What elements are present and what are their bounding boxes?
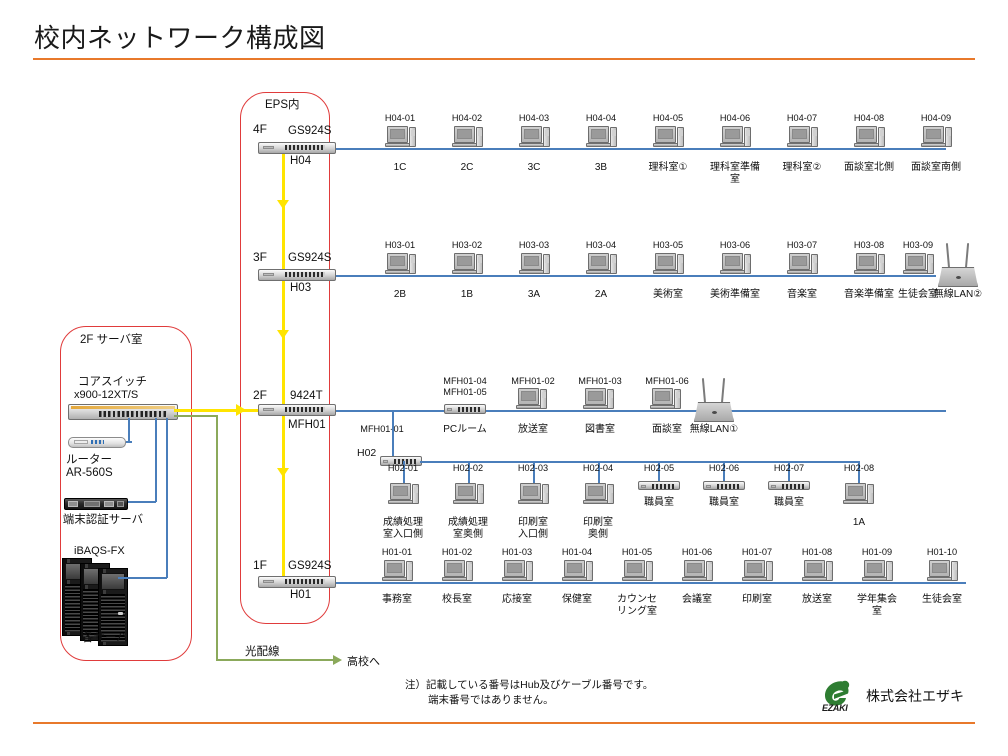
- pc-icon[interactable]: [585, 388, 615, 412]
- core-switch-icon[interactable]: [68, 404, 178, 420]
- switch-model-2f: 9424T: [290, 390, 323, 402]
- eps-enclosure-label: EPS内: [265, 96, 300, 112]
- node-code: H03-07: [780, 240, 824, 250]
- bus-3f: [336, 275, 936, 277]
- node-code: H03-06: [713, 240, 757, 250]
- node-label: 美術準備室: [707, 289, 763, 301]
- cable-mfh01-to-h02: [392, 410, 394, 461]
- pc-icon[interactable]: [564, 560, 594, 584]
- node-code: H01-08: [795, 547, 839, 557]
- node-label: 2B: [372, 289, 428, 301]
- router-model: AR-560S: [66, 467, 113, 479]
- node-code: H03-04: [579, 240, 623, 250]
- node-label-line1: 生徒会室: [914, 594, 970, 606]
- server-room-label: 2F サーバ室: [80, 331, 143, 347]
- node-code: H02-04: [570, 463, 626, 473]
- pc-icon[interactable]: [387, 126, 417, 150]
- node-code: H04-09: [914, 113, 958, 123]
- node-code: H01-05: [615, 547, 659, 557]
- pc-icon[interactable]: [804, 560, 834, 584]
- node-label: 1B: [439, 289, 495, 301]
- pc-icon[interactable]: [454, 253, 484, 277]
- node-label-line2: リング室: [609, 606, 665, 618]
- company-logo: EZAKI 株式会社エザキ: [822, 678, 992, 718]
- node-code: H02-08: [831, 463, 887, 473]
- pc-icon[interactable]: [454, 126, 484, 150]
- node-code: H02-06: [696, 463, 752, 473]
- node-code: H04-03: [512, 113, 556, 123]
- node-code: H03-03: [512, 240, 556, 250]
- pc-icon[interactable]: [455, 483, 485, 507]
- pc-icon[interactable]: [856, 126, 886, 150]
- switch-id-h01: H01: [290, 589, 311, 601]
- floor-label-3f: 3F: [253, 250, 267, 264]
- bus-4f: [336, 148, 946, 150]
- pc-icon[interactable]: [856, 253, 886, 277]
- node-code: H04-04: [579, 113, 623, 123]
- fiber-chevron-3f-2f: [277, 330, 289, 339]
- wireless-ap-icon-1[interactable]: [692, 378, 736, 424]
- node-code: H02-02: [440, 463, 496, 473]
- node-code: H02-03: [505, 463, 561, 473]
- node-label-line2: 奥側: [570, 529, 626, 541]
- node-code: H01-01: [375, 547, 419, 557]
- footer-divider: [33, 722, 975, 724]
- switch-model-3f: GS924S: [288, 252, 331, 264]
- optical-destination: 高校へ: [347, 653, 380, 669]
- switch-id-mfh01: MFH01: [288, 419, 326, 431]
- node-label-line1: 印刷室: [729, 594, 785, 606]
- pc-icon[interactable]: [521, 126, 551, 150]
- node-label-line1: カウンセ: [609, 594, 665, 606]
- node-label-line1: 保健室: [549, 594, 605, 606]
- node-code: H01-03: [495, 547, 539, 557]
- fiber-arrow-to-2f: [236, 404, 246, 416]
- node-label-line2: 室入口側: [375, 529, 431, 541]
- pc-icon[interactable]: [845, 483, 875, 507]
- node-label: 1C: [372, 162, 428, 174]
- note-line-2: 端末番号ではありません。: [428, 693, 554, 708]
- pc-icon[interactable]: [624, 560, 654, 584]
- auth-server-name: 端末認証サーバ: [60, 513, 146, 528]
- node-label-line2: 入口側: [505, 529, 561, 541]
- node-code: MFH01-04: [435, 376, 495, 386]
- optical-horizontal: [216, 659, 334, 661]
- pc-icon[interactable]: [384, 560, 414, 584]
- pc-icon[interactable]: [444, 560, 474, 584]
- node-code: H03-09: [896, 240, 940, 250]
- node-label-line1: 印刷室: [505, 517, 561, 529]
- node-code: H04-07: [780, 113, 824, 123]
- node-label: 美術室: [640, 289, 696, 301]
- hub-icon[interactable]: [768, 481, 810, 490]
- company-name: 株式会社エザキ: [866, 686, 964, 706]
- node-label-line1: 放送室: [789, 594, 845, 606]
- node-label: 図書室: [570, 424, 630, 436]
- pc-icon[interactable]: [929, 560, 959, 584]
- pc-icon[interactable]: [588, 126, 618, 150]
- pc-icon[interactable]: [655, 253, 685, 277]
- node-label-line1: 校長室: [429, 594, 485, 606]
- node-code: MFH01-06: [637, 376, 697, 386]
- node-code: H02-05: [631, 463, 687, 473]
- diagram-canvas: 校内ネットワーク構成図 EPS内 2F サーバ室 コアスイッチ x900-12X…: [0, 0, 1008, 756]
- node-label-line1: 成績処理: [440, 517, 496, 529]
- switch-id-h03: H03: [290, 282, 311, 294]
- pc-icon[interactable]: [789, 253, 819, 277]
- pc-icon[interactable]: [504, 560, 534, 584]
- optical-label: 光配線: [245, 643, 280, 659]
- node-label: 職員室: [761, 497, 817, 509]
- node-label-line1: 印刷室: [570, 517, 626, 529]
- node-label: 理科室①: [640, 162, 696, 174]
- node-label: PCルーム: [435, 424, 495, 436]
- fiber-chevron-4f-3f: [277, 200, 289, 209]
- pc-icon[interactable]: [864, 560, 894, 584]
- switch-model-1f: GS924S: [288, 560, 331, 572]
- node-label-line1: 事務室: [369, 594, 425, 606]
- hub-icon-pc-room[interactable]: [444, 404, 486, 414]
- switch-icon-h04[interactable]: [258, 142, 336, 154]
- cable-servers-horizontal: [118, 577, 167, 579]
- pc-icon[interactable]: [684, 560, 714, 584]
- optical-vertical: [216, 415, 218, 660]
- node-label: 理科室②: [774, 162, 830, 174]
- node-label: 音楽室: [774, 289, 830, 301]
- node-code-mfh01-01: MFH01-01: [352, 424, 412, 434]
- router-icon[interactable]: [68, 437, 126, 448]
- node-label: 1A: [831, 517, 887, 529]
- node-code: H01-07: [735, 547, 779, 557]
- node-label: 面談室南側: [908, 162, 964, 174]
- cable-core-to-servers: [166, 418, 168, 578]
- node-label: 職員室: [696, 497, 752, 509]
- node-code: H04-02: [445, 113, 489, 123]
- pc-icon[interactable]: [585, 483, 615, 507]
- wireless-ap-label-2: 無線LAN②: [926, 289, 990, 301]
- node-label-line1: 会議室: [669, 594, 725, 606]
- ezaki-wordmark: EZAKI: [822, 703, 848, 713]
- switch-model-4f: GS924S: [288, 125, 331, 137]
- node-code: H01-06: [675, 547, 719, 557]
- node-code: H01-09: [855, 547, 899, 557]
- node-label-line2: 室奥側: [440, 529, 496, 541]
- node-code: H01-04: [555, 547, 599, 557]
- pc-icon[interactable]: [923, 126, 953, 150]
- node-code: H04-06: [713, 113, 757, 123]
- page-title: 校内ネットワーク構成図: [34, 18, 326, 55]
- optical-arrow-icon: [333, 655, 342, 665]
- core-switch-name: コアスイッチ: [78, 373, 147, 389]
- node-label: 3C: [506, 162, 562, 174]
- node-code: H03-01: [378, 240, 422, 250]
- node-label-line1: 応接室: [489, 594, 545, 606]
- node-label: 理科室準備室: [707, 162, 763, 186]
- pc-icon[interactable]: [521, 253, 551, 277]
- node-code: MFH01-03: [570, 376, 630, 386]
- pc-icon[interactable]: [905, 253, 935, 277]
- node-label: 2C: [439, 162, 495, 174]
- node-label: 2A: [573, 289, 629, 301]
- node-label: 3A: [506, 289, 562, 301]
- node-label-line1: 学年集会: [849, 594, 905, 606]
- node-label: 音楽準備室: [841, 289, 897, 301]
- pc-icon[interactable]: [655, 126, 685, 150]
- node-code: H04-01: [378, 113, 422, 123]
- fiber-riser-vertical: [282, 148, 285, 576]
- node-label: 放送室: [503, 424, 563, 436]
- hub-icon[interactable]: [703, 481, 745, 490]
- pc-icon[interactable]: [390, 483, 420, 507]
- pc-icon[interactable]: [722, 253, 752, 277]
- node-code: H02-01: [375, 463, 431, 473]
- node-code: H03-05: [646, 240, 690, 250]
- node-label: 3B: [573, 162, 629, 174]
- cable-router-horizontal: [126, 441, 132, 443]
- cable-core-to-router: [128, 418, 130, 441]
- node-code: H01-10: [920, 547, 964, 557]
- node-label: 面談室北側: [841, 162, 897, 174]
- node-label-line1: 成績処理: [375, 517, 431, 529]
- switch-icon-h01[interactable]: [258, 576, 336, 588]
- bus-2f: [336, 410, 946, 412]
- floor-label-1f: 1F: [253, 558, 267, 572]
- node-code: MFH01-05: [435, 387, 495, 397]
- cable-auth-horizontal: [128, 501, 156, 503]
- switch-icon-mfh01[interactable]: [258, 404, 336, 416]
- note-line-1: 注）記載している番号はHub及びケーブル番号です。: [405, 678, 653, 693]
- core-switch-model: x900-12XT/S: [74, 389, 138, 401]
- node-label-line2: 室: [849, 606, 905, 618]
- pc-icon[interactable]: [744, 560, 774, 584]
- router-name: ルーター: [66, 451, 112, 467]
- hub-icon[interactable]: [638, 481, 680, 490]
- node-code: MFH01-02: [503, 376, 563, 386]
- node-label: 職員室: [631, 497, 687, 509]
- switch-id-h02: H02: [357, 447, 376, 459]
- auth-server-model: iBAQS-FX: [74, 545, 125, 557]
- pc-icon[interactable]: [387, 253, 417, 277]
- floor-label-4f: 4F: [253, 122, 267, 136]
- pc-icon[interactable]: [520, 483, 550, 507]
- pc-icon[interactable]: [722, 126, 752, 150]
- node-code: H04-08: [847, 113, 891, 123]
- pc-icon[interactable]: [652, 388, 682, 412]
- wireless-ap-icon-2[interactable]: [936, 243, 980, 289]
- node-code: H03-08: [847, 240, 891, 250]
- servers-label: 各サーバ: [82, 629, 128, 645]
- pc-icon[interactable]: [518, 388, 548, 412]
- pc-icon[interactable]: [588, 253, 618, 277]
- fiber-chevron-2f-1f: [277, 468, 289, 477]
- node-code: H04-05: [646, 113, 690, 123]
- cable-core-to-auth: [155, 418, 157, 502]
- pc-icon[interactable]: [789, 126, 819, 150]
- auth-server-icon[interactable]: [64, 498, 128, 510]
- optical-from-core: [174, 415, 218, 417]
- switch-icon-h03[interactable]: [258, 269, 336, 281]
- switch-id-h04: H04: [290, 155, 311, 167]
- node-code: H02-07: [761, 463, 817, 473]
- title-divider: [33, 58, 975, 60]
- node-code: H01-02: [435, 547, 479, 557]
- wireless-ap-label-1: 無線LAN①: [682, 424, 746, 436]
- floor-label-2f: 2F: [253, 388, 267, 402]
- node-code: H03-02: [445, 240, 489, 250]
